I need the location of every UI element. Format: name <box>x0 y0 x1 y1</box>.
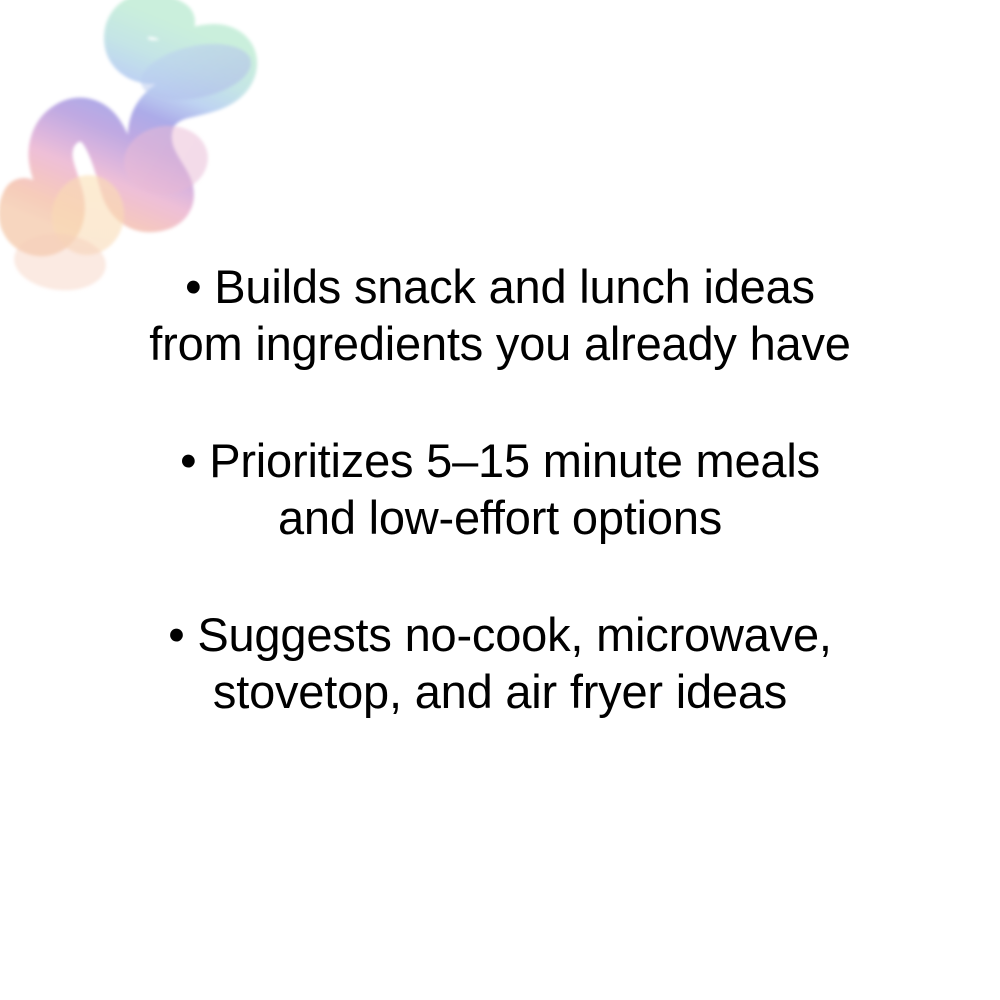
bullet-item-1: • Builds snack and lunch ideas from ingr… <box>60 258 940 372</box>
bullet-item-2: • Prioritizes 5–15 minute meals and low-… <box>60 432 940 546</box>
bullet-list: • Builds snack and lunch ideas from ingr… <box>0 258 1000 720</box>
bullet-item-3: • Suggests no-cook, microwave, stovetop,… <box>60 606 940 720</box>
slide-canvas: • Builds snack and lunch ideas from ingr… <box>0 0 1000 1000</box>
